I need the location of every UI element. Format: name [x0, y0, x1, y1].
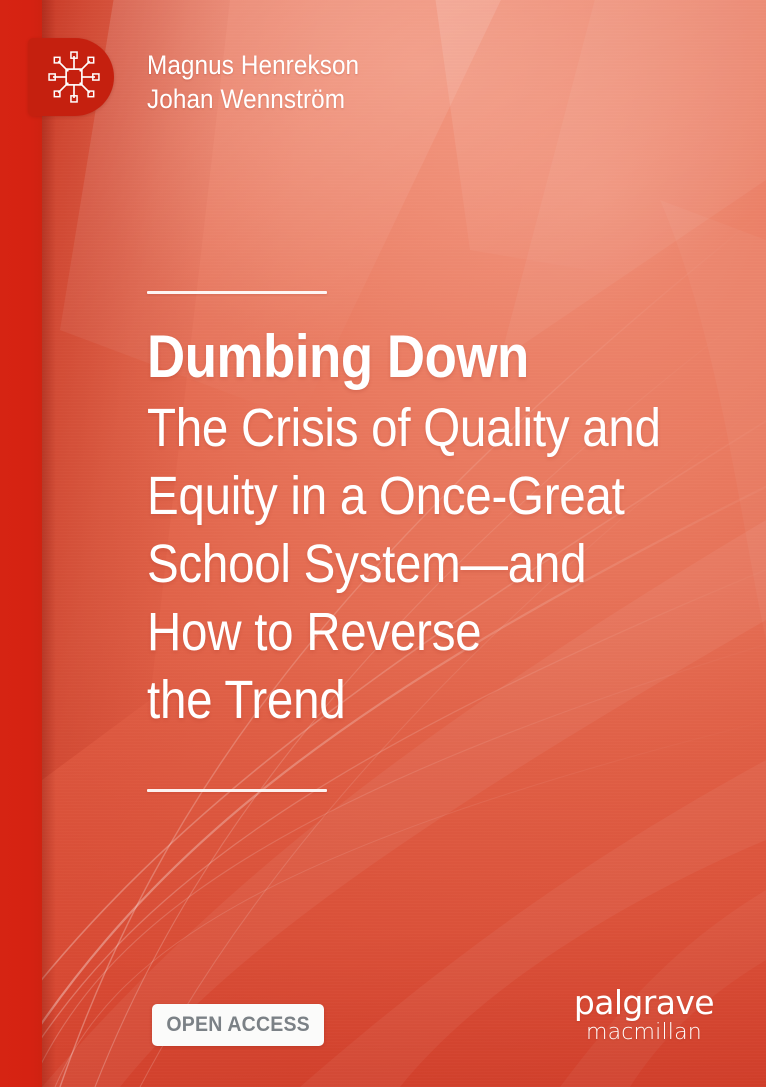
book-spine-shadow	[42, 0, 56, 1087]
book-cover: Magnus Henrekson Johan Wennström Dumbing…	[0, 0, 766, 1087]
subtitle-line-2: Equity in a Once-Great	[147, 462, 675, 530]
author-name-2: Johan Wennström	[147, 82, 651, 116]
book-title: Dumbing Down	[147, 326, 675, 388]
open-access-label: OPEN ACCESS	[166, 1013, 309, 1037]
publisher-wordmark: palgrave macmillan	[574, 986, 714, 1046]
title-rule-bottom	[147, 789, 327, 792]
subtitle-line-1: The Crisis of Quality and	[147, 394, 675, 462]
subtitle-line-5: the Trend	[147, 666, 675, 734]
author-list: Magnus Henrekson Johan Wennström	[147, 48, 707, 116]
title-block: Dumbing Down The Crisis of Quality and E…	[147, 326, 747, 734]
publisher-imprint: macmillan	[574, 1020, 714, 1046]
open-access-badge: OPEN ACCESS	[152, 1004, 324, 1046]
palgrave-chip-icon	[46, 49, 102, 105]
publisher-name: palgrave	[574, 986, 714, 1020]
book-spine-strip	[0, 0, 42, 1087]
publisher-badge	[28, 38, 114, 116]
subtitle-line-4: How to Reverse	[147, 598, 675, 666]
author-name-1: Magnus Henrekson	[147, 48, 651, 82]
subtitle-line-3: School System—and	[147, 530, 675, 598]
title-rule-top	[147, 291, 327, 294]
book-subtitle: The Crisis of Quality and Equity in a On…	[147, 394, 675, 734]
